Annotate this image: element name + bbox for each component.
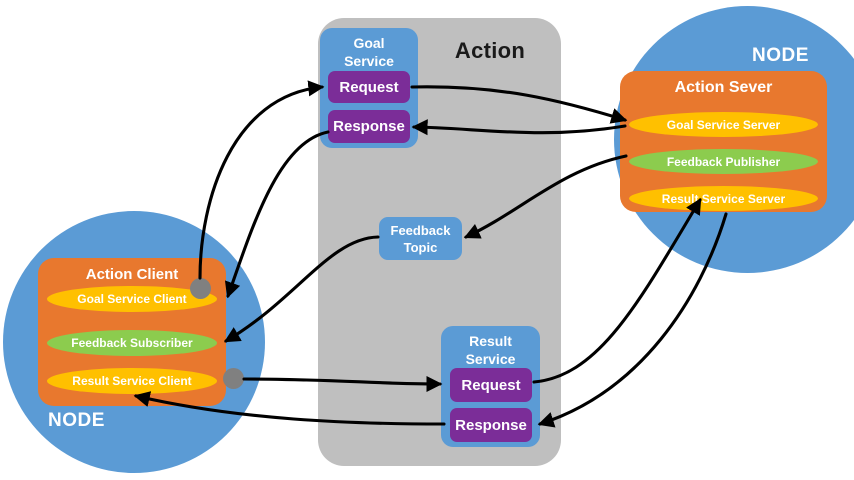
feedback-topic-label: Feedback Topic [391, 222, 451, 256]
diagram-canvas: Action Action Client Action Sever Goal S… [0, 0, 854, 480]
result-service-title-line1: Result [469, 333, 512, 349]
node-left-label: NODE [48, 410, 105, 432]
goal-service-title-line2: Service [344, 53, 394, 69]
feedback-topic-line1: Feedback [391, 223, 451, 238]
goal-service-title-line1: Goal [353, 35, 384, 51]
pill-feedback-subscriber[interactable]: Feedback Subscriber [47, 330, 217, 356]
action-panel-title: Action [425, 38, 555, 64]
result-service-title: Result Service [441, 332, 540, 368]
pill-feedback-publisher[interactable]: Feedback Publisher [629, 149, 818, 174]
result-service-response-chip[interactable]: Response [450, 408, 532, 442]
pill-result-service-server[interactable]: Result Service Server [629, 186, 818, 211]
goal-service-title: Goal Service [320, 34, 418, 70]
pill-result-service-client[interactable]: Result Service Client [47, 368, 217, 394]
action-server-title: Action Sever [620, 79, 827, 97]
goal-service-response-chip[interactable]: Response [328, 110, 410, 143]
feedback-topic-box[interactable]: Feedback Topic [379, 217, 462, 260]
result-service-request-chip[interactable]: Request [450, 368, 532, 402]
result-service-title-line2: Service [466, 351, 516, 367]
connector-dot-goal-client [190, 278, 211, 299]
connector-dot-result-client [223, 368, 244, 389]
feedback-topic-line2: Topic [404, 240, 438, 255]
pill-goal-service-server[interactable]: Goal Service Server [629, 112, 818, 137]
node-right-label: NODE [752, 45, 809, 67]
goal-service-request-chip[interactable]: Request [328, 71, 410, 103]
